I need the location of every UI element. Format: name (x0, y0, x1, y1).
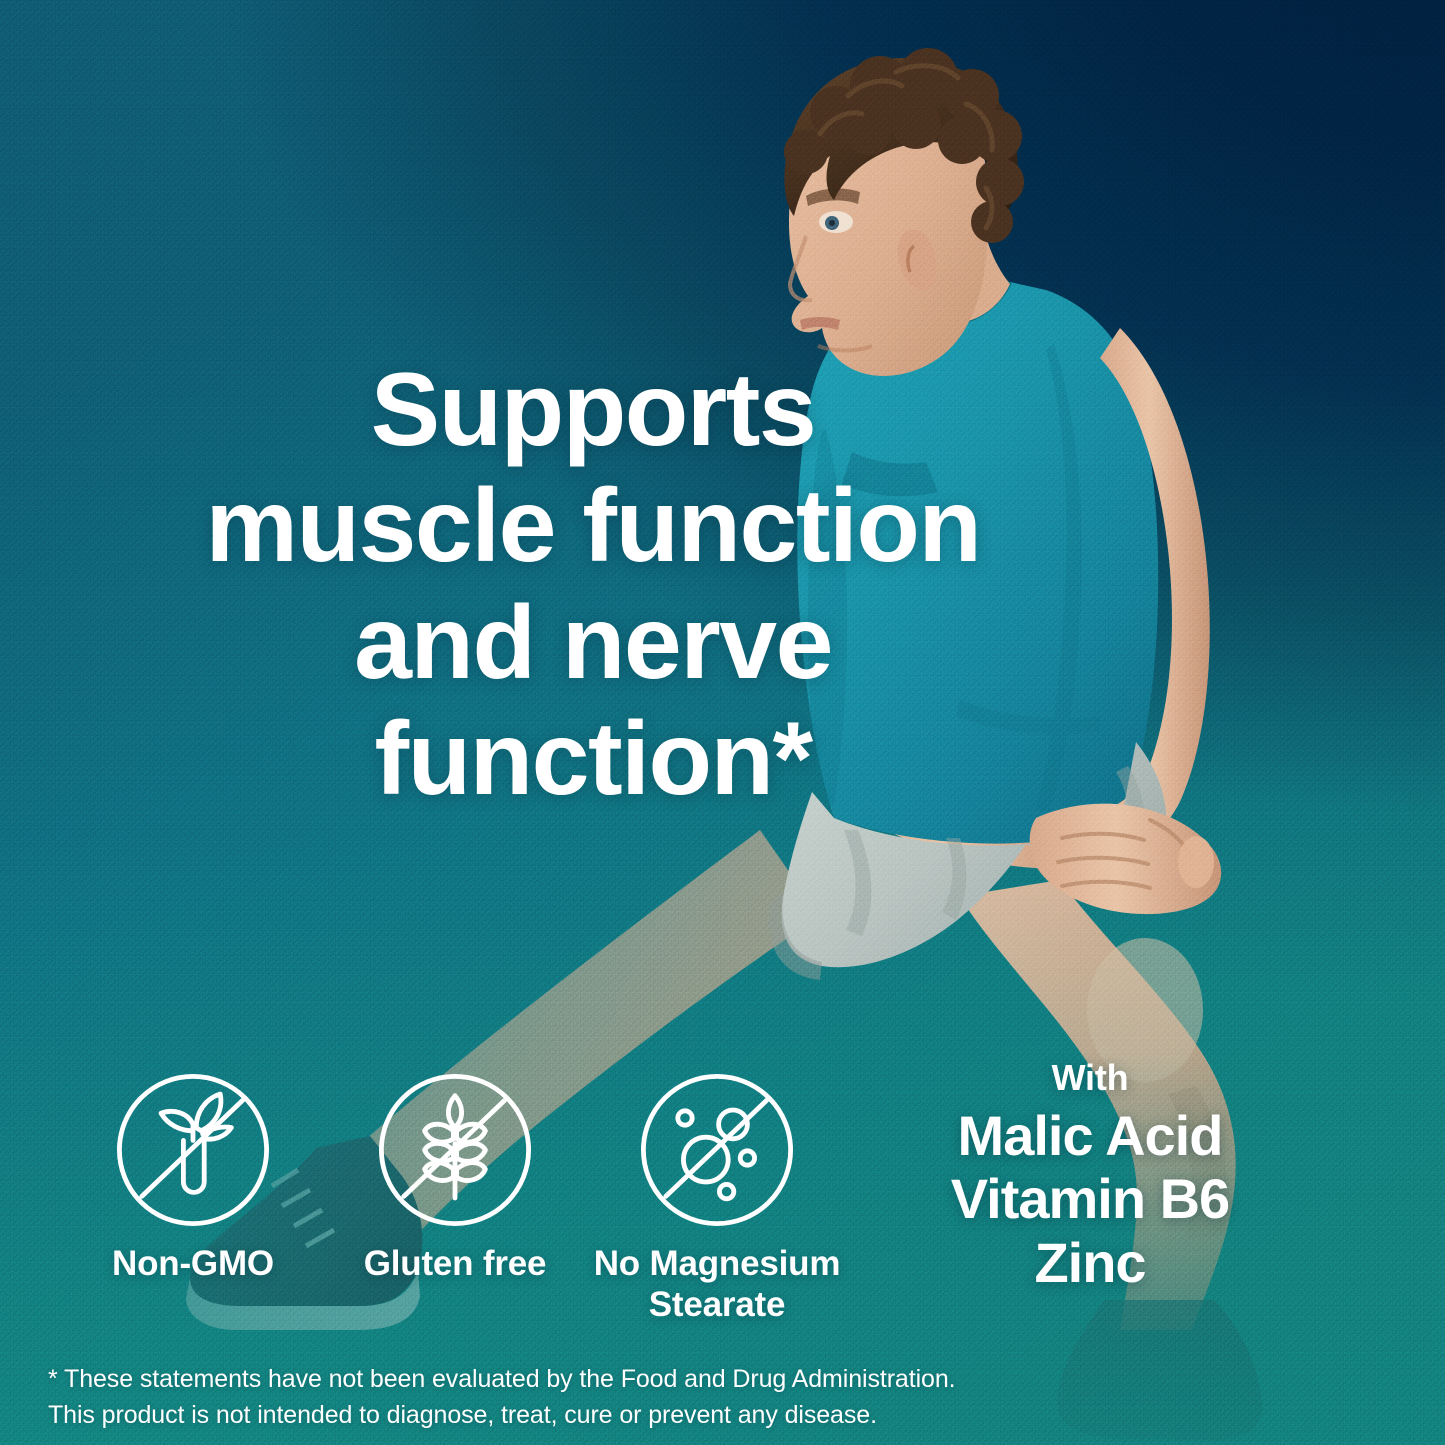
promo-banner: Supports muscle function and nerve funct… (0, 0, 1445, 1445)
film-grain-overlay (0, 0, 1445, 1445)
